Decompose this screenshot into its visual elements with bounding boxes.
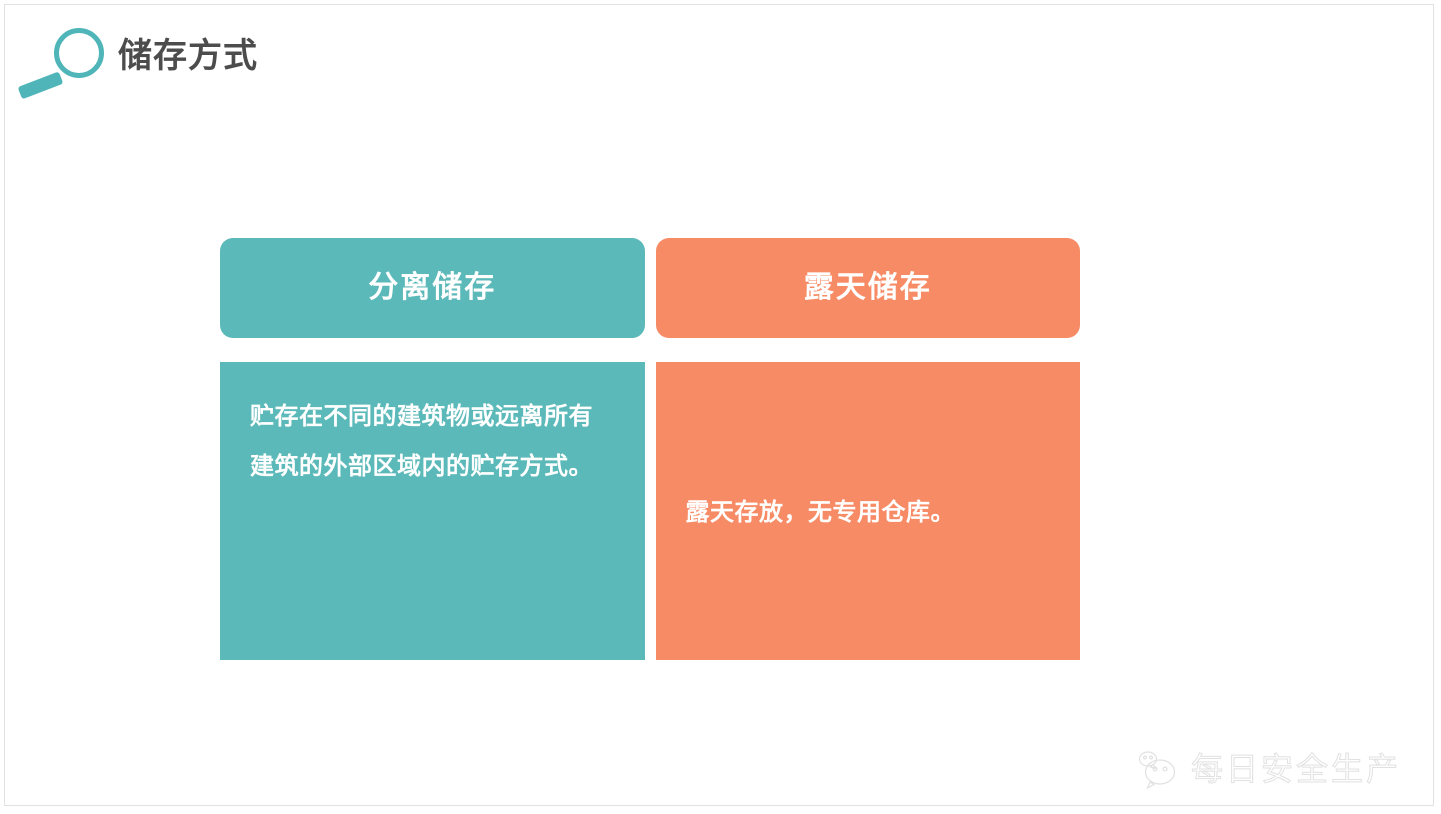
column-separated-storage: 分离储存 贮存在不同的建筑物或远离所有建筑的外部区域内的贮存方式。: [220, 238, 645, 660]
card-body-open-air-storage: 露天存放，无专用仓库。: [656, 362, 1081, 660]
column-open-air-storage: 露天储存 露天存放，无专用仓库。: [656, 238, 1081, 660]
page-title: 储存方式: [118, 39, 258, 73]
card-header-open-air-storage[interactable]: 露天储存: [656, 238, 1081, 338]
slide-header: 储存方式: [14, 18, 258, 94]
card-header-label: 分离储存: [368, 273, 496, 303]
watermark: 每日安全生产: [1135, 749, 1401, 789]
card-header-separated-storage[interactable]: 分离储存: [220, 238, 645, 338]
card-body-separated-storage: 贮存在不同的建筑物或远离所有建筑的外部区域内的贮存方式。: [220, 362, 645, 660]
wechat-icon: [1135, 749, 1181, 789]
slide: 储存方式 分离储存 贮存在不同的建筑物或远离所有建筑的外部区域内的贮存方式。 露…: [0, 0, 1441, 814]
magnifier-icon: [14, 20, 114, 92]
magnifier-lens: [54, 28, 104, 78]
card-body-text: 贮存在不同的建筑物或远离所有建筑的外部区域内的贮存方式。: [250, 392, 615, 492]
magnifier-handle: [18, 71, 64, 99]
card-header-label: 露天储存: [804, 273, 932, 303]
card-body-text: 露天存放，无专用仓库。: [686, 494, 1051, 532]
watermark-text: 每日安全生产: [1191, 753, 1401, 785]
storage-type-columns: 分离储存 贮存在不同的建筑物或远离所有建筑的外部区域内的贮存方式。 露天储存 露…: [220, 238, 1080, 660]
